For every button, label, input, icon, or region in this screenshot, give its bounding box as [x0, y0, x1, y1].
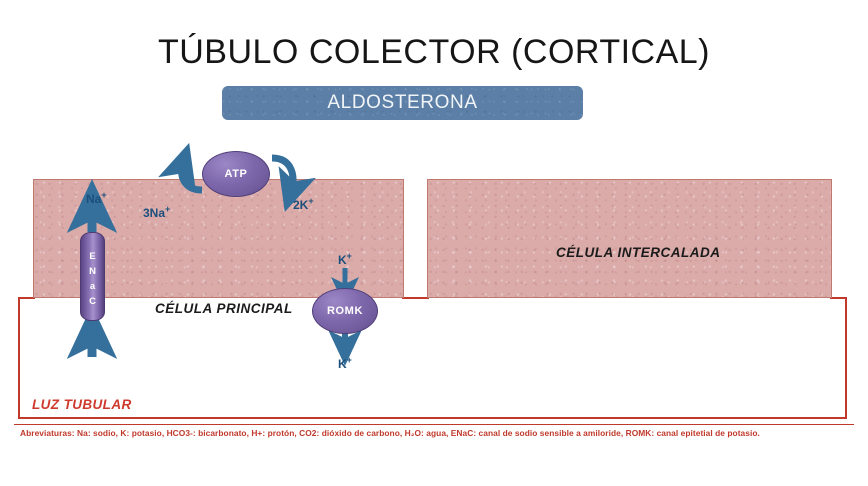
enac-channel: E N a C	[80, 232, 105, 321]
ion-na-text: Na	[86, 192, 101, 206]
diagram-canvas: TÚBULO COLECTOR (CORTICAL) ALDOSTERONA L…	[0, 0, 868, 486]
romk-channel: ROMK	[312, 288, 378, 334]
lumen-border-bottom	[18, 417, 847, 419]
ion-label-2k: 2K+	[293, 196, 314, 212]
ion-2k-charge: +	[308, 196, 313, 206]
aldosterone-banner-label: ALDOSTERONA	[327, 92, 477, 114]
ion-label-k-lumen: K+	[338, 355, 352, 371]
ion-label-3na: 3Na+	[143, 204, 170, 220]
lumen-border-left	[18, 297, 20, 419]
lumen-border-right	[845, 297, 847, 419]
ion-3na-text: 3Na	[143, 206, 165, 220]
page-title: TÚBULO COLECTOR (CORTICAL)	[0, 33, 868, 72]
aldosterone-banner: ALDOSTERONA	[222, 86, 583, 120]
enac-letter-4: C	[89, 294, 96, 309]
ion-3na-charge: +	[165, 204, 170, 214]
atpase-pump-label: ATP	[225, 168, 248, 180]
ion-k-cell-charge: +	[347, 251, 352, 261]
ion-label-k-cell: K+	[338, 251, 352, 267]
footnote-divider	[14, 424, 854, 425]
ion-na-charge: +	[101, 190, 106, 200]
romk-channel-label: ROMK	[327, 305, 363, 317]
ion-label-na-apical: Na+	[86, 190, 107, 206]
ion-k-lumen-text: K	[338, 357, 347, 371]
enac-letter-2: N	[89, 264, 96, 279]
cell-principal-label: CÉLULA PRINCIPAL	[155, 301, 293, 316]
footnote-abbreviations: Abreviaturas: Na: sodio, K: potasio, HCO…	[20, 428, 852, 438]
ion-k-cell-text: K	[338, 253, 347, 267]
lumen-border-top-mid	[402, 297, 429, 299]
ion-k-lumen-charge: +	[347, 355, 352, 365]
enac-letter-3: a	[90, 279, 95, 294]
atpase-pump: ATP	[202, 151, 270, 197]
cell-intercalada	[427, 179, 832, 298]
lumen-label: LUZ TUBULAR	[32, 397, 132, 412]
ion-2k-text: 2K	[293, 198, 308, 212]
cell-intercalada-label: CÉLULA INTERCALADA	[556, 245, 721, 260]
enac-letter-1: E	[89, 249, 95, 264]
